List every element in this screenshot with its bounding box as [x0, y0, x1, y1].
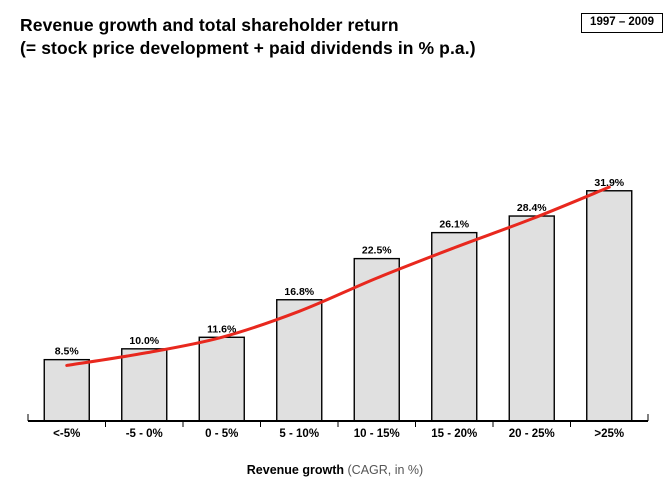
bar-value-label: 22.5% — [362, 245, 392, 257]
bar — [354, 259, 399, 421]
bar-value-label: 16.8% — [284, 286, 314, 298]
bar — [44, 360, 89, 421]
category-label: >25% — [594, 428, 624, 440]
category-label: 0 - 5% — [205, 428, 238, 440]
x-axis-caption: Revenue growth (CAGR, in %) — [0, 463, 670, 477]
category-labels: <-5%-5 - 0%0 - 5%5 - 10%10 - 15%15 - 20%… — [53, 428, 624, 440]
category-label: 15 - 20% — [431, 428, 477, 440]
bar — [509, 216, 554, 421]
bar — [587, 191, 632, 421]
bar — [122, 349, 167, 421]
chart-plot-area: 8.5%10.0%11.6%16.8%22.5%26.1%28.4%31.9% … — [0, 0, 670, 503]
x-axis-caption-muted: (CAGR, in %) — [344, 463, 423, 477]
bar — [199, 337, 244, 421]
bar-value-label: 11.6% — [207, 323, 237, 335]
bar-value-label: 31.9% — [594, 177, 624, 189]
x-axis — [28, 414, 648, 427]
bars-group — [44, 191, 632, 421]
category-label: 5 - 10% — [279, 428, 319, 440]
x-axis-caption-strong: Revenue growth — [247, 463, 344, 477]
bar-value-label: 26.1% — [439, 219, 469, 231]
bar-value-label: 8.5% — [55, 346, 80, 358]
category-label: -5 - 0% — [126, 428, 163, 440]
bar-value-label: 28.4% — [517, 202, 547, 214]
category-label: 10 - 15% — [354, 428, 400, 440]
bar — [432, 233, 477, 421]
bar-value-label: 10.0% — [129, 335, 159, 347]
category-label: 20 - 25% — [509, 428, 555, 440]
category-label: <-5% — [53, 428, 80, 440]
